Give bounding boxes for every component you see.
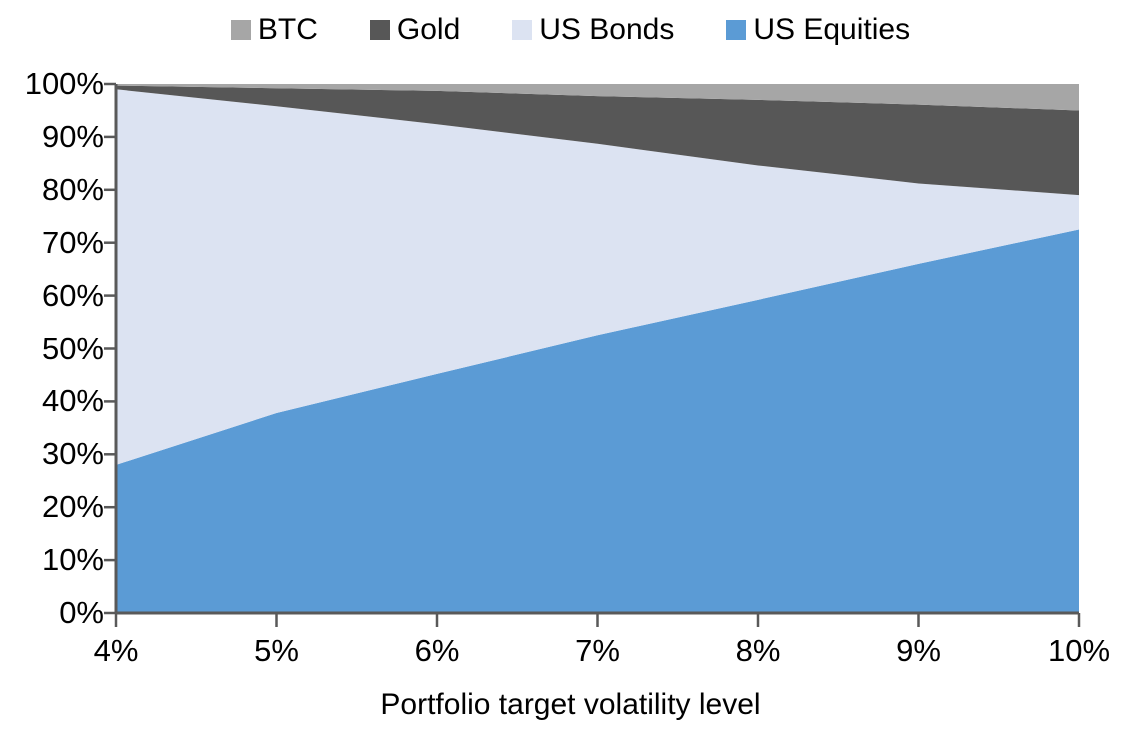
area-series-group — [116, 84, 1079, 613]
x-tick-label: 10% — [1019, 635, 1139, 666]
y-tick-label: 30% — [0, 438, 104, 469]
stacked-area-chart: BTC Gold US Bonds US Equities 100%90%80%… — [0, 0, 1141, 742]
plot-area — [0, 0, 1141, 742]
x-tick-label: 4% — [56, 635, 176, 666]
x-tick-label: 8% — [698, 635, 818, 666]
x-tick-label: 5% — [217, 635, 337, 666]
y-tick-label: 50% — [0, 333, 104, 364]
y-tick-label: 40% — [0, 385, 104, 416]
y-tick-label: 80% — [0, 174, 104, 205]
y-tick-label: 10% — [0, 544, 104, 575]
y-tick-label: 70% — [0, 227, 104, 258]
y-tick-label: 100% — [0, 68, 104, 99]
x-tick-label: 6% — [377, 635, 497, 666]
y-tick-label: 60% — [0, 280, 104, 311]
y-tick-label: 20% — [0, 491, 104, 522]
plot-svg — [0, 0, 1141, 742]
x-tick-label: 7% — [538, 635, 658, 666]
y-tick-label: 0% — [0, 597, 104, 628]
x-tick-label: 9% — [859, 635, 979, 666]
y-tick-label: 90% — [0, 121, 104, 152]
x-axis-title: Portfolio target volatility level — [0, 688, 1141, 722]
